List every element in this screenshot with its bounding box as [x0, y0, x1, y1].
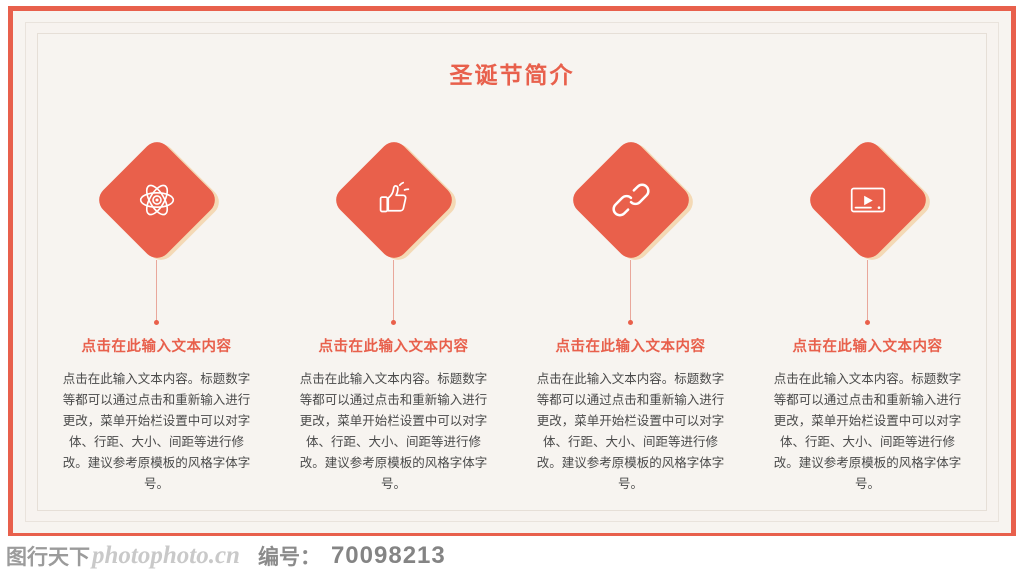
connector-line	[156, 260, 157, 322]
column-body: 点击在此输入文本内容。标题数字等都可以通过点击和重新输入进行更改，菜单开始栏设置…	[773, 368, 963, 494]
icon-badge[interactable]	[338, 144, 450, 256]
connector-line	[630, 260, 631, 322]
column-heading: 点击在此输入文本内容	[319, 335, 469, 356]
content-column: 点击在此输入文本内容 点击在此输入文本内容。标题数字等都可以通过点击和重新输入进…	[52, 144, 262, 494]
connector-line	[393, 260, 394, 322]
column-body: 点击在此输入文本内容。标题数字等都可以通过点击和重新输入进行更改，菜单开始栏设置…	[299, 368, 489, 494]
watermark-number: 70098213	[331, 542, 446, 570]
content-column: 点击在此输入文本内容 点击在此输入文本内容。标题数字等都可以通过点击和重新输入进…	[526, 144, 736, 494]
connector-dot	[865, 320, 870, 325]
connector-dot	[628, 320, 633, 325]
inner-frame: 圣诞节简介	[25, 22, 999, 522]
watermark-bar: 图行天下 photophoto.cn 编号： 70098213	[0, 536, 1024, 576]
column-body: 点击在此输入文本内容。标题数字等都可以通过点击和重新输入进行更改，菜单开始栏设置…	[62, 368, 252, 494]
icon-badge[interactable]	[812, 144, 924, 256]
content-column: 点击在此输入文本内容 点击在此输入文本内容。标题数字等都可以通过点击和重新输入进…	[289, 144, 499, 494]
column-heading: 点击在此输入文本内容	[556, 335, 706, 356]
column-heading: 点击在此输入文本内容	[82, 335, 232, 356]
outer-frame: 圣诞节简介	[8, 6, 1016, 538]
slide: 圣诞节简介	[0, 0, 1024, 576]
video-play-icon	[845, 177, 891, 223]
icon-badge[interactable]	[575, 144, 687, 256]
column-body: 点击在此输入文本内容。标题数字等都可以通过点击和重新输入进行更改，菜单开始栏设置…	[536, 368, 726, 494]
columns-container: 点击在此输入文本内容 点击在此输入文本内容。标题数字等都可以通过点击和重新输入进…	[38, 144, 986, 494]
watermark-logo: 图行天下	[6, 541, 90, 571]
watermark-number-label: 编号：	[258, 541, 321, 571]
link-icon	[608, 177, 654, 223]
icon-badge[interactable]	[101, 144, 213, 256]
column-heading: 点击在此输入文本内容	[793, 335, 943, 356]
connector-dot	[391, 320, 396, 325]
atom-icon	[134, 177, 180, 223]
connector-dot	[154, 320, 159, 325]
thumbs-up-icon	[371, 177, 417, 223]
content-frame: 圣诞节简介	[37, 33, 987, 511]
page-title: 圣诞节简介	[38, 56, 986, 90]
content-column: 点击在此输入文本内容 点击在此输入文本内容。标题数字等都可以通过点击和重新输入进…	[763, 144, 973, 494]
watermark-site: photophoto.cn	[92, 542, 240, 570]
connector-line	[867, 260, 868, 322]
